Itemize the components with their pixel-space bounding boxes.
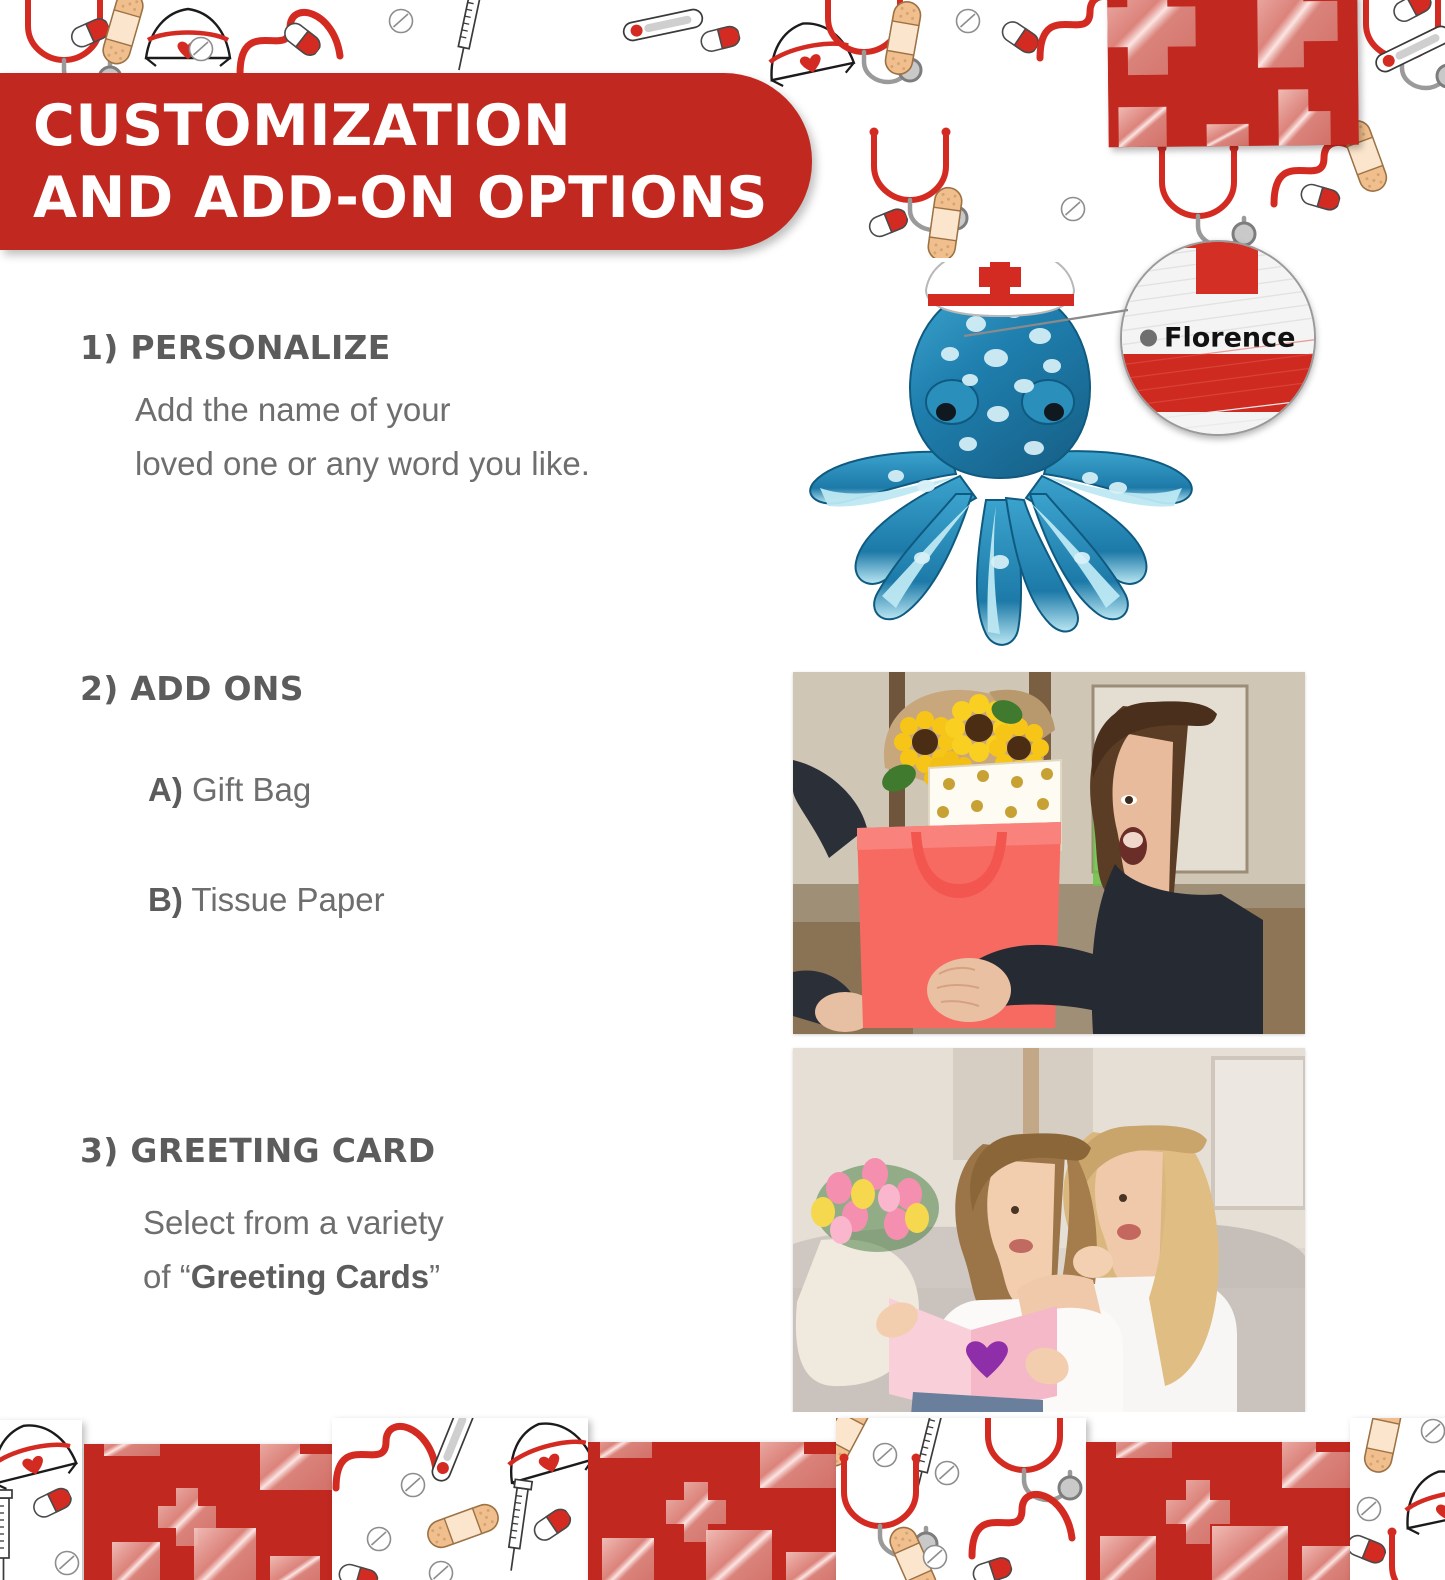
greeting-card-quote-suffix: ” <box>429 1258 440 1295</box>
strip-tile-red-3 <box>1086 1442 1350 1580</box>
section-3-body: Select from a variety of “Greeting Cards… <box>143 1196 444 1304</box>
callout-leader-line <box>960 302 1130 342</box>
strip-tile-white-4 <box>1350 1418 1445 1580</box>
strip-tile-red-1 <box>84 1444 332 1580</box>
section-1-heading: 1) PERSONALIZE <box>80 328 391 367</box>
embroidered-name-text: Florence <box>1164 323 1295 354</box>
red-cross-tile-header <box>1107 0 1359 147</box>
page-title-banner: CUSTOMIZATION AND ADD-ON OPTIONS <box>0 73 812 250</box>
embroidery-magnifier: Florence <box>1120 240 1316 436</box>
addon-item-gift-bag: A) Gift Bag <box>148 771 311 809</box>
greeting-card-quote-bold: Greeting Cards <box>191 1258 429 1295</box>
section-1-body-line-1: Add the name of your <box>135 383 590 437</box>
addon-letter-b: B) <box>148 881 183 918</box>
greeting-card-quote-prefix: of “ <box>143 1258 191 1295</box>
section-3-body-line-2: of “Greeting Cards” <box>143 1250 444 1304</box>
strip-tile-white-1 <box>0 1420 82 1580</box>
title-line-2: AND ADD-ON OPTIONS <box>33 162 812 234</box>
bottom-pattern-strip <box>0 1412 1445 1580</box>
section-1-body-line-2: loved one or any word you like. <box>135 437 590 491</box>
section-3-body-line-1: Select from a variety <box>143 1196 444 1250</box>
addon-label-tissue-paper: Tissue Paper <box>191 881 384 918</box>
addon-letter-a: A) <box>148 771 183 808</box>
callout-anchor-dot <box>1140 330 1157 347</box>
strip-tile-white-3 <box>836 1418 1086 1580</box>
section-3-heading: 3) GREETING CARD <box>80 1131 435 1170</box>
greeting-card-photo <box>793 1048 1305 1415</box>
title-line-1: CUSTOMIZATION <box>33 90 812 162</box>
personalization-preview: Florence <box>790 232 1350 652</box>
addon-label-gift-bag: Gift Bag <box>192 771 311 808</box>
section-1-body: Add the name of your loved one or any wo… <box>135 383 590 491</box>
strip-tile-red-2 <box>588 1442 836 1580</box>
strip-tile-white-2 <box>332 1418 588 1580</box>
section-2-heading: 2) ADD ONS <box>80 669 304 708</box>
addon-item-tissue-paper: B) Tissue Paper <box>148 881 385 919</box>
gift-bag-photo <box>793 672 1305 1034</box>
